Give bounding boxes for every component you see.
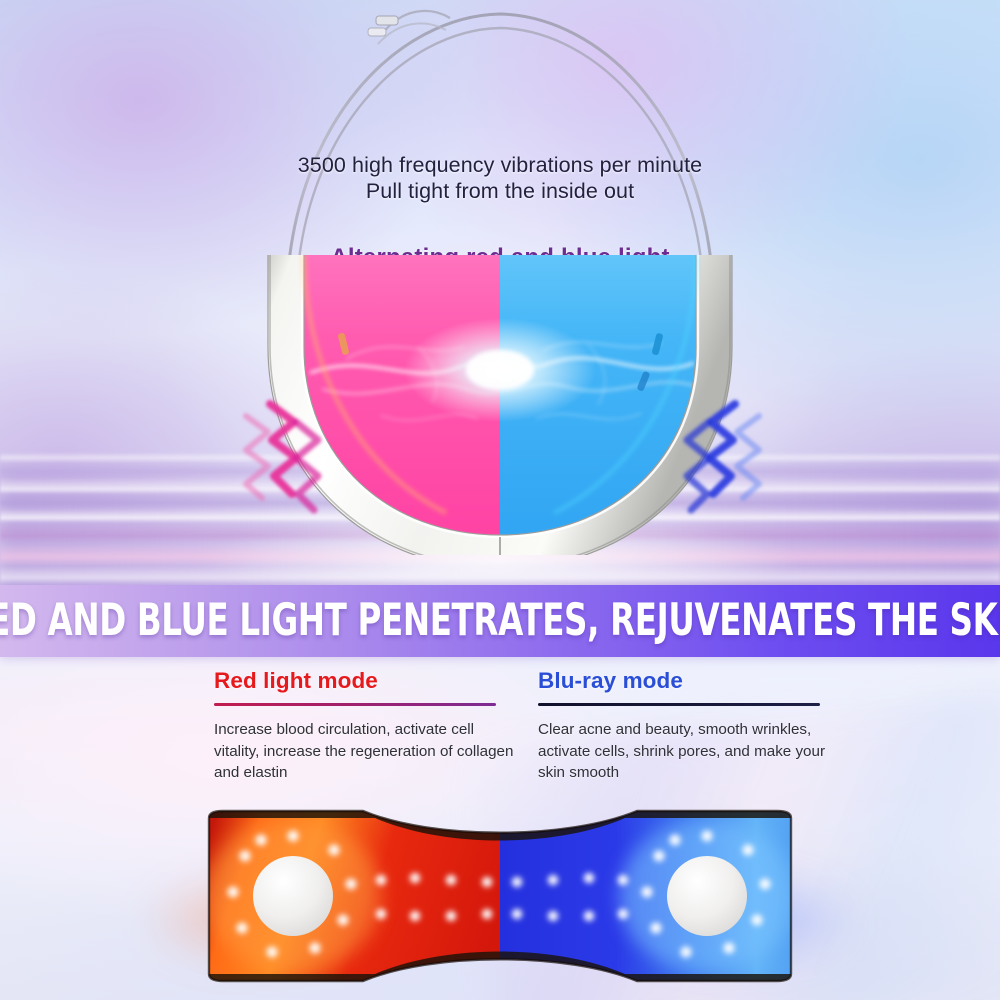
mode-red-divider <box>214 703 496 706</box>
mode-red-title: Red light mode <box>214 668 514 694</box>
vibration-bolts-right-icon <box>655 388 775 518</box>
feature-text-block: 3500 high frequency vibrations per minut… <box>0 152 1000 204</box>
mode-blue-title: Blu-ray mode <box>538 668 838 694</box>
feature-line-2: Pull tight from the inside out <box>0 178 1000 204</box>
mode-blue-description: Clear acne and beauty, smooth wrinkles, … <box>538 719 838 784</box>
product-infographic: 3500 high frequency vibrations per minut… <box>0 0 1000 1000</box>
banner-headline: RED AND BLUE LIGHT PENETRATES, REJUVENAT… <box>0 585 1000 657</box>
power-button-right[interactable] <box>667 856 747 936</box>
feature-line-1: 3500 high frequency vibrations per minut… <box>0 152 1000 178</box>
mode-columns: Red light mode Increase blood circulatio… <box>0 668 1000 788</box>
mode-blue-divider <box>538 703 820 706</box>
mode-blu-ray: Blu-ray mode Clear acne and beauty, smoo… <box>538 668 838 784</box>
mode-red-light: Red light mode Increase blood circulatio… <box>214 668 514 784</box>
led-light-panel <box>195 806 805 986</box>
vibration-bolts-left-icon <box>230 388 350 518</box>
power-button-left[interactable] <box>253 856 333 936</box>
banner-headline-text: RED AND BLUE LIGHT PENETRATES, REJUVENAT… <box>0 595 1000 646</box>
mode-red-description: Increase blood circulation, activate cel… <box>214 719 514 784</box>
